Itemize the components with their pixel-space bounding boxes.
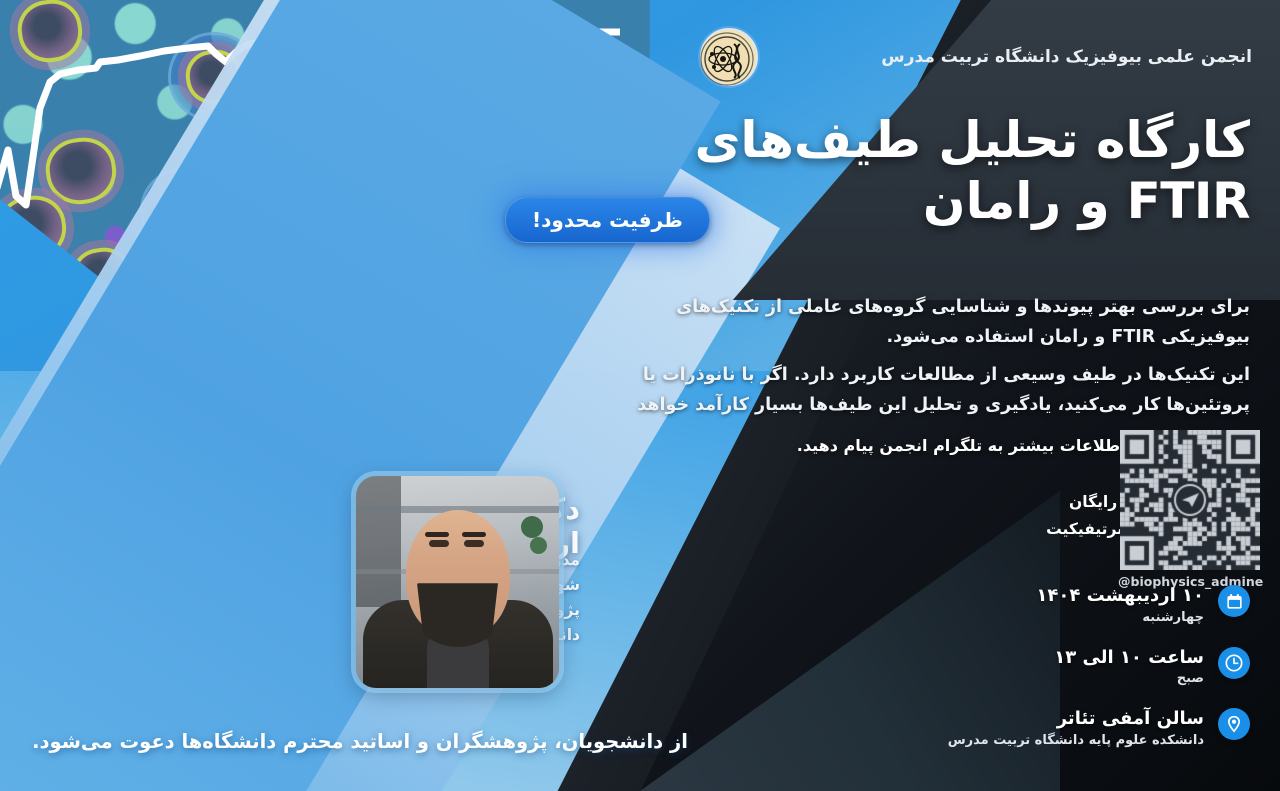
- cell-shape: [14, 0, 86, 66]
- info-row-time: ساعت ۱۰ الی ۱۳ صبح: [730, 647, 1250, 687]
- description-paragraph-1: برای بررسی بهتر پیوندها و شناسایی گروه‌ه…: [600, 292, 1250, 352]
- organization-name: انجمن علمی بیوفیزیک دانشگاه تربیت مدرس: [776, 47, 1252, 67]
- invitation-text: از دانشجویان، پژوهشگران و اساتید محترم د…: [0, 730, 720, 753]
- portrait-brow-left: [425, 532, 449, 537]
- event-venue-detail: دانشکده علوم پایه دانشگاه تربیت مدرس: [730, 733, 1204, 748]
- info-row-date: ۱۰ اردیبهشت ۱۴۰۴ چهارشنبه: [730, 585, 1250, 625]
- event-time: ساعت ۱۰ الی ۱۳: [730, 647, 1204, 670]
- portrait-brow-right: [462, 532, 486, 537]
- event-venue: سالن آمفی تئاتر: [730, 708, 1204, 731]
- event-weekday: چهارشنبه: [730, 610, 1204, 625]
- location-pin-icon: [1218, 708, 1250, 740]
- limited-capacity-badge: ظرفیت محدود!: [505, 197, 710, 243]
- atom-dna-seal-logo: [700, 28, 758, 86]
- info-row-location: سالن آمفی تئاتر دانشکده علوم پایه دانشگا…: [730, 708, 1250, 748]
- telegram-qr-code[interactable]: [1120, 430, 1260, 570]
- portrait-eye-left: [429, 540, 449, 547]
- info-text-time: ساعت ۱۰ الی ۱۳ صبح: [730, 647, 1204, 687]
- info-text-date: ۱۰ اردیبهشت ۱۴۰۴ چهارشنبه: [730, 585, 1204, 625]
- portrait-background-dark: [356, 476, 401, 607]
- workshop-poster: انجمن علمی بیوفیزیک دانشگاه تربیت مدرس ک…: [0, 0, 1280, 791]
- poster-header: انجمن علمی بیوفیزیک دانشگاه تربیت مدرس: [700, 28, 1252, 86]
- cell-shape: [42, 133, 121, 208]
- clock-icon: [1218, 647, 1250, 679]
- title-line-1: کارگاه تحلیل طیف‌های: [695, 111, 1250, 169]
- qr-code-block[interactable]: @biophysics_admine: [1118, 430, 1262, 589]
- portrait-eye-right: [464, 540, 484, 547]
- event-info-list: ۱۰ اردیبهشت ۱۴۰۴ چهارشنبه ساعت ۱۰ الی ۱۳…: [730, 585, 1250, 770]
- info-text-location: سالن آمفی تئاتر دانشکده علوم پایه دانشگا…: [730, 708, 1204, 748]
- speaker-portrait-photo: [356, 476, 559, 688]
- event-date: ۱۰ اردیبهشت ۱۴۰۴: [730, 585, 1204, 608]
- description-block: برای بررسی بهتر پیوندها و شناسایی گروه‌ه…: [600, 292, 1250, 450]
- event-time-period: صبح: [730, 671, 1204, 686]
- calendar-icon: [1218, 585, 1250, 617]
- portrait-background-plant: [521, 516, 543, 538]
